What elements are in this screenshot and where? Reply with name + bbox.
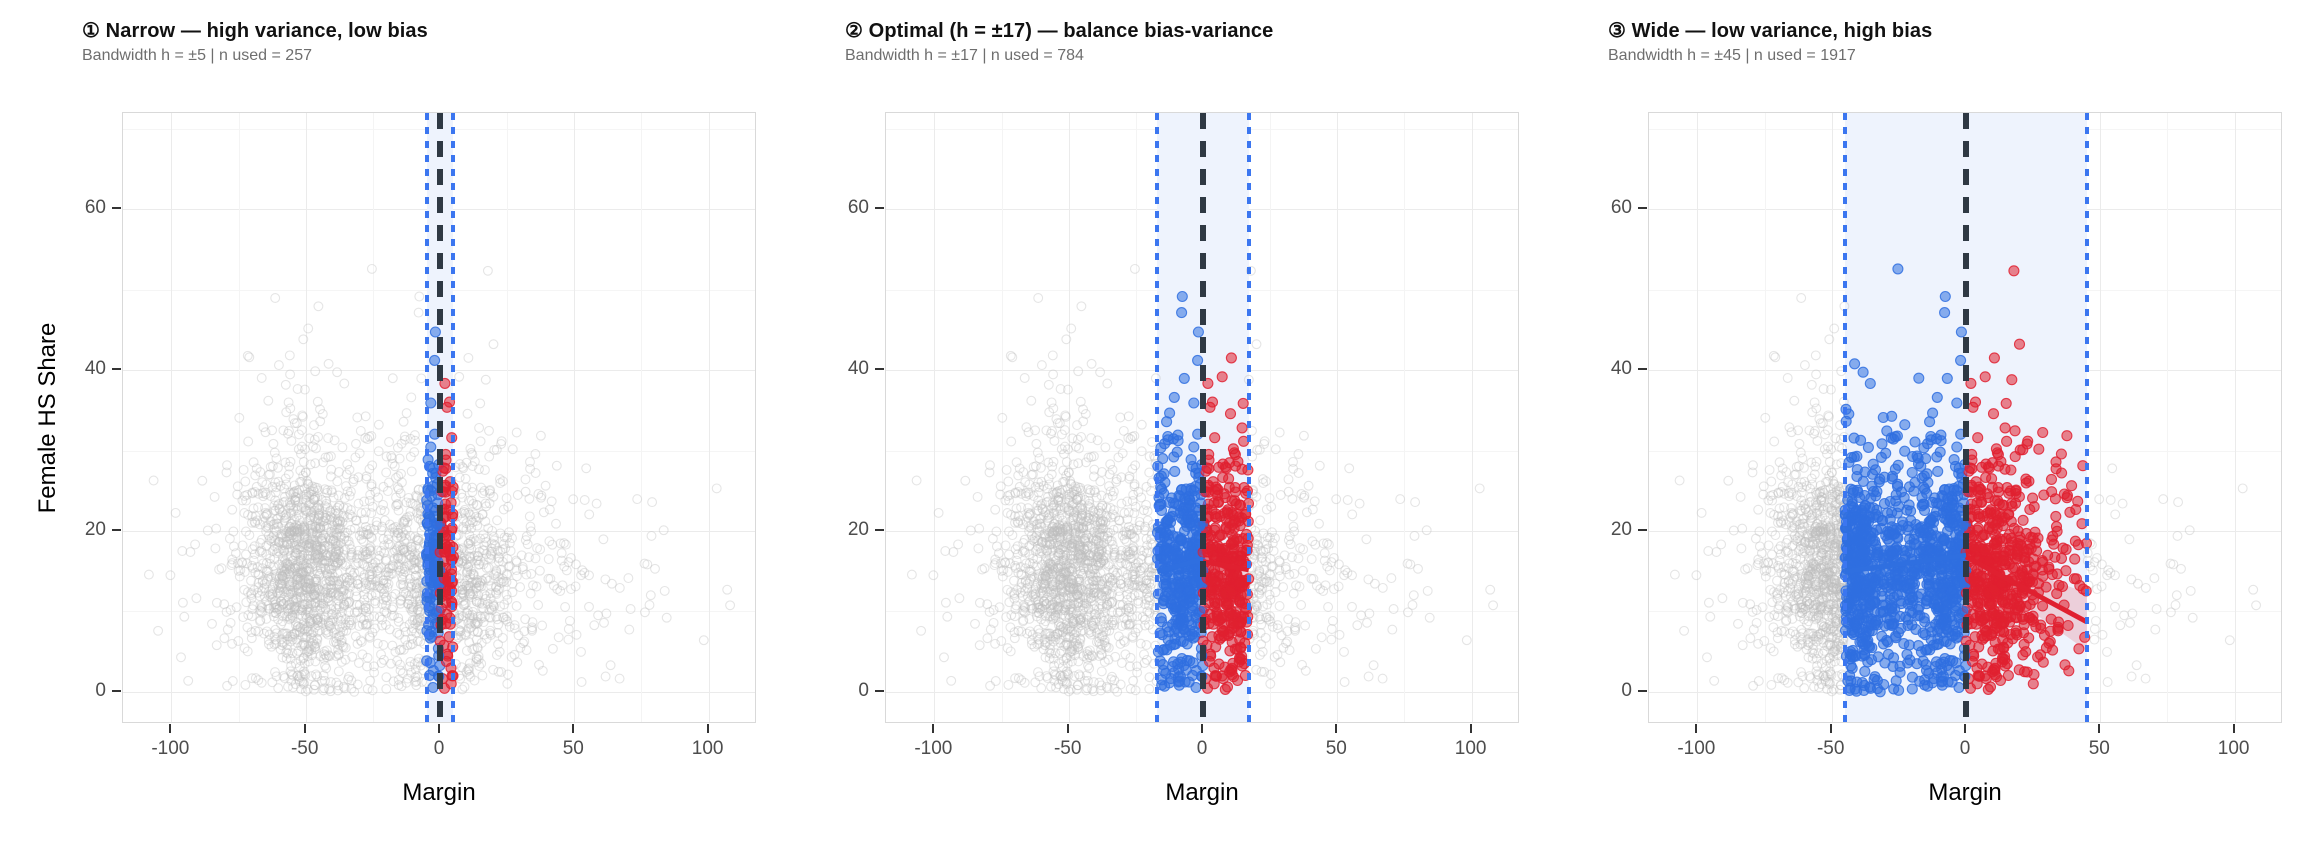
y-tick-label-0: 0 xyxy=(858,680,869,702)
y-tick-mark-40 xyxy=(112,368,121,370)
y-tick-mark-20 xyxy=(875,529,884,531)
x-tick-label-0: 0 xyxy=(434,738,445,760)
y-tick-label-0: 0 xyxy=(95,680,106,702)
y-tick-mark-60 xyxy=(1638,207,1647,209)
x-tick-mark-0 xyxy=(438,724,440,733)
y-tick-mark-20 xyxy=(112,529,121,531)
bandwidth-edge-right-narrow xyxy=(451,113,455,722)
x-tick-label-100: 100 xyxy=(692,738,724,760)
facet-panel-narrow: ① Narrow — high variance, low biasBandwi… xyxy=(0,0,763,844)
y-tick-mark-0 xyxy=(875,690,884,692)
x-tick-mark-100 xyxy=(707,724,709,733)
y-tick-label-40: 40 xyxy=(85,358,106,380)
panel-title-optimal: ② Optimal (h = ±17) — balance bias-varia… xyxy=(845,18,1273,43)
x-axis-title-optimal: Margin xyxy=(1165,779,1238,807)
x-axis-title-wide: Margin xyxy=(1928,779,2001,807)
rdd-bandwidth-figure: ① Narrow — high variance, low biasBandwi… xyxy=(0,0,2304,844)
panel-subtitle-wide: Bandwidth h = ±45 | n used = 1917 xyxy=(1608,47,1856,65)
y-tick-mark-40 xyxy=(875,368,884,370)
x-tick-mark--50 xyxy=(1067,724,1069,733)
y-tick-label-40: 40 xyxy=(1611,358,1632,380)
y-tick-label-40: 40 xyxy=(848,358,869,380)
y-tick-label-20: 20 xyxy=(1611,519,1632,541)
y-tick-mark-20 xyxy=(1638,529,1647,531)
cutoff-line-optimal xyxy=(1200,113,1206,722)
x-tick-label-0: 0 xyxy=(1197,738,1208,760)
y-tick-label-60: 60 xyxy=(85,197,106,219)
plot-area-narrow xyxy=(122,112,756,723)
x-tick-mark--100 xyxy=(932,724,934,733)
x-tick-label-50: 50 xyxy=(2089,738,2110,760)
y-tick-mark-40 xyxy=(1638,368,1647,370)
x-tick-label--50: -50 xyxy=(1054,738,1081,760)
x-tick-mark-100 xyxy=(2233,724,2235,733)
x-tick-mark-50 xyxy=(1335,724,1337,733)
x-tick-mark--100 xyxy=(1695,724,1697,733)
x-tick-mark-0 xyxy=(1201,724,1203,733)
x-tick-label--100: -100 xyxy=(151,738,189,760)
cutoff-line-wide xyxy=(1963,113,1969,722)
panel-title-narrow: ① Narrow — high variance, low bias xyxy=(82,18,428,43)
cutoff-line-narrow xyxy=(437,113,443,722)
panel-title-wide: ③ Wide — low variance, high bias xyxy=(1608,18,1932,43)
panel-subtitle-optimal: Bandwidth h = ±17 | n used = 784 xyxy=(845,47,1084,65)
y-tick-label-20: 20 xyxy=(848,519,869,541)
x-tick-label--50: -50 xyxy=(1817,738,1844,760)
bandwidth-edge-left-optimal xyxy=(1155,113,1159,722)
x-tick-label-0: 0 xyxy=(1960,738,1971,760)
x-axis-title-narrow: Margin xyxy=(402,779,475,807)
plot-area-wide xyxy=(1648,112,2282,723)
y-tick-mark-60 xyxy=(112,207,121,209)
x-tick-label-100: 100 xyxy=(2218,738,2250,760)
y-tick-label-60: 60 xyxy=(848,197,869,219)
x-tick-mark--100 xyxy=(169,724,171,733)
y-tick-label-60: 60 xyxy=(1611,197,1632,219)
x-tick-label-50: 50 xyxy=(563,738,584,760)
x-tick-mark--50 xyxy=(304,724,306,733)
y-tick-mark-0 xyxy=(1638,690,1647,692)
x-tick-mark-100 xyxy=(1470,724,1472,733)
y-tick-label-20: 20 xyxy=(85,519,106,541)
x-tick-label--50: -50 xyxy=(291,738,318,760)
y-tick-mark-60 xyxy=(875,207,884,209)
panel-subtitle-narrow: Bandwidth h = ±5 | n used = 257 xyxy=(82,47,312,65)
bandwidth-edge-right-optimal xyxy=(1247,113,1251,722)
x-tick-label-50: 50 xyxy=(1326,738,1347,760)
bandwidth-edge-right-wide xyxy=(2085,113,2089,722)
facet-panel-wide: ③ Wide — low variance, high biasBandwidt… xyxy=(1526,0,2304,844)
x-tick-label--100: -100 xyxy=(1677,738,1715,760)
x-tick-label-100: 100 xyxy=(1455,738,1487,760)
x-tick-mark-0 xyxy=(1964,724,1966,733)
y-tick-label-0: 0 xyxy=(1621,680,1632,702)
bandwidth-edge-left-wide xyxy=(1843,113,1847,722)
x-tick-mark--50 xyxy=(1830,724,1832,733)
facet-panel-optimal: ② Optimal (h = ±17) — balance bias-varia… xyxy=(763,0,1526,844)
bandwidth-edge-left-narrow xyxy=(425,113,429,722)
y-tick-mark-0 xyxy=(112,690,121,692)
plot-area-optimal xyxy=(885,112,1519,723)
x-tick-mark-50 xyxy=(572,724,574,733)
x-tick-mark-50 xyxy=(2098,724,2100,733)
x-tick-label--100: -100 xyxy=(914,738,952,760)
y-axis-title: Female HS Share xyxy=(34,322,62,513)
